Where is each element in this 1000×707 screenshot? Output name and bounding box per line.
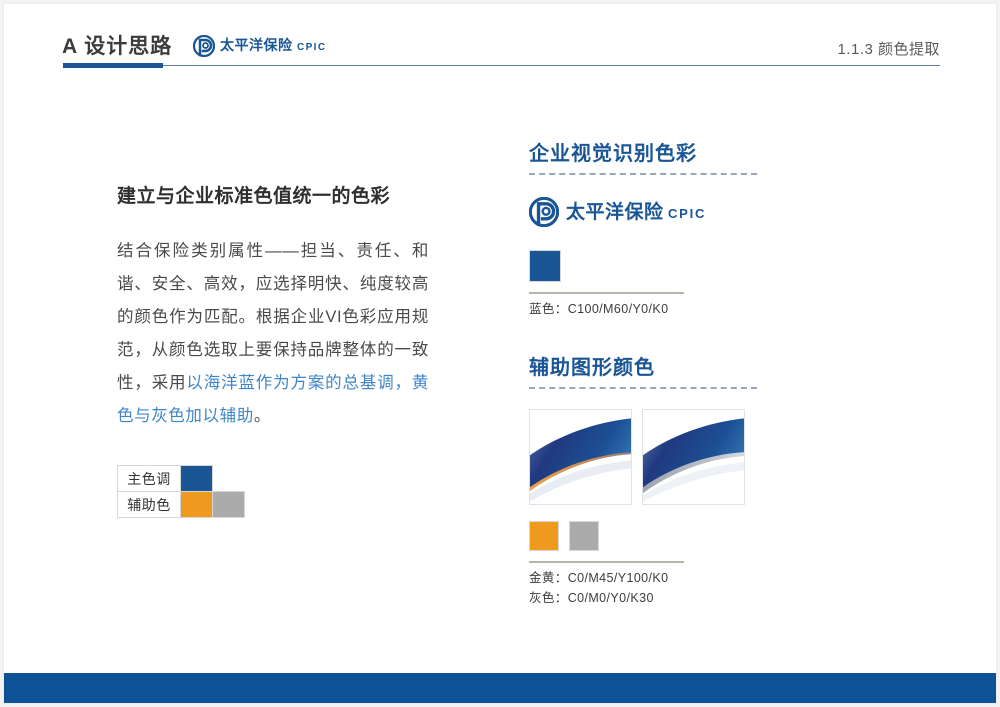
legend-swatch-secondary-gray — [213, 492, 245, 518]
section-divider-dashed — [529, 173, 757, 175]
footer-bar — [4, 673, 996, 703]
swatch-underline-rule — [529, 292, 684, 294]
blue-cmyk-label: 蓝色：C100/M60/Y0/K0 — [529, 300, 949, 319]
left-heading: 建立与企业标准色值统一的色彩 — [117, 184, 429, 211]
section-title-auxiliary-colors: 辅助图形颜色 — [529, 351, 949, 380]
gold-swatch — [529, 521, 559, 551]
section-number: 1.1.3 颜色提取 — [837, 38, 940, 59]
gold-cmyk-label: 金黄：C0/M45/Y100/K0 — [529, 569, 949, 588]
brand-name-en: CPIC — [668, 206, 706, 221]
brand-name-en: CPIC — [297, 42, 327, 53]
gray-swatch — [569, 521, 599, 551]
section-title-corporate-colors: 企业视觉识别色彩 — [529, 137, 949, 166]
swatch-underline-rule — [529, 561, 684, 563]
primary-swatch-row — [529, 250, 949, 282]
header-brand-wordmark: 太平洋保险 CPIC — [220, 38, 326, 54]
table-row: 主色调 — [118, 466, 245, 492]
header-brand-logo: 太平洋保险 CPIC — [193, 35, 326, 57]
brand-name-cn: 太平洋保险 — [220, 37, 293, 53]
legend-swatch-primary-blue — [181, 466, 213, 492]
left-body-text: 结合保险类别属性——担当、责任、和谐、安全、高效，应选择明快、纯度较高的颜色作为… — [117, 235, 429, 433]
legend-swatch-secondary-gold — [181, 492, 213, 518]
right-content-column: 企业视觉识别色彩 太平洋保险 CPIC 蓝色：C100/M60/Y0/K0 辅助… — [529, 137, 949, 608]
cpic-logo-icon — [529, 197, 559, 227]
legend-label-primary: 主色调 — [118, 466, 181, 492]
left-content-column: 建立与企业标准色值统一的色彩 结合保险类别属性——担当、责任、和谐、安全、高效，… — [117, 184, 429, 433]
auxiliary-swatch-row — [529, 521, 949, 551]
auxiliary-graphics-row — [529, 409, 949, 505]
body-text-plain: 结合保险类别属性——担当、责任、和谐、安全、高效，应选择明快、纯度较高的颜色作为… — [117, 242, 429, 392]
slide-page: A 设计思路 太平洋保险 CPIC 1.1.3 颜色提取 建立与企业标准色值统一… — [4, 4, 996, 703]
graphic-swoosh-blue-orange — [529, 409, 632, 505]
page-header: A 设计思路 太平洋保险 CPIC 1.1.3 颜色提取 — [4, 4, 996, 74]
legend-swatch-empty — [213, 466, 245, 492]
body-text-tail: 。 — [254, 407, 271, 425]
header-rule-thin — [163, 65, 940, 66]
page-title: A 设计思路 — [62, 30, 172, 60]
brand-name-cn: 太平洋保险 — [566, 202, 664, 223]
gray-cmyk-label: 灰色：C0/M0/Y0/K30 — [529, 589, 949, 608]
graphic-swoosh-blue-gray — [642, 409, 745, 505]
cpic-logo-icon — [193, 35, 215, 57]
corporate-brand-logo: 太平洋保险 CPIC — [529, 197, 949, 227]
legend-label-secondary: 辅助色 — [118, 492, 181, 518]
section-divider-dashed — [529, 387, 757, 389]
table-row: 辅助色 — [118, 492, 245, 518]
blue-swatch — [529, 250, 561, 282]
header-rule-accent — [63, 63, 163, 68]
corporate-brand-wordmark: 太平洋保险 CPIC — [566, 203, 706, 222]
palette-legend-table: 主色调 辅助色 — [117, 465, 245, 518]
